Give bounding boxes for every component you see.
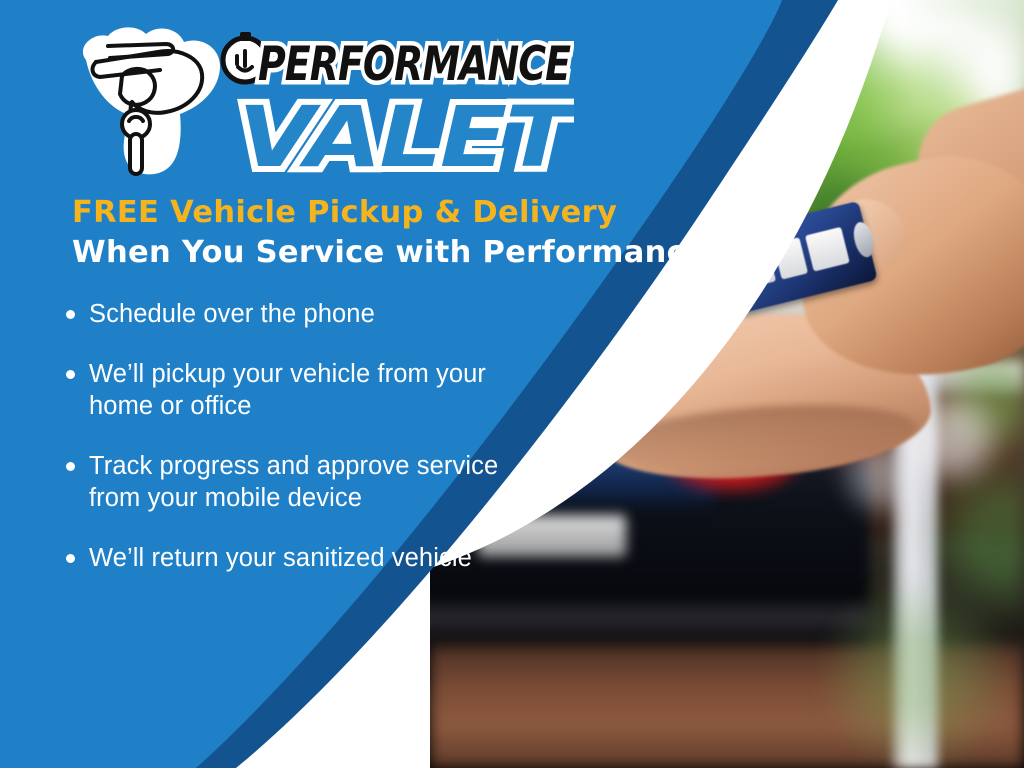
logo-valet-text: VALET [238, 88, 574, 186]
content-column: PERFORMANCE VALET FREE Vehicle Pickup & … [0, 0, 700, 768]
performance-valet-logo[interactable]: PERFORMANCE VALET [62, 18, 574, 186]
performance-valet-banner: PERFORMANCE VALET FREE Vehicle Pickup & … [0, 0, 1024, 768]
bullet-dot-icon [66, 462, 75, 471]
list-item-label: Schedule over the phone [89, 298, 375, 331]
list-item-label: We’ll return your sanitized vehicle [89, 542, 472, 575]
list-item: We’ll pickup your vehicle from your home… [66, 358, 626, 423]
headline-line-2: When You Service with Performance! [72, 233, 672, 273]
list-item: Track progress and approve service from … [66, 450, 626, 515]
headline-line-1: FREE Vehicle Pickup & Delivery [72, 193, 672, 233]
list-item: We’ll return your sanitized vehicle [66, 542, 626, 575]
logo-white-outline [83, 27, 220, 174]
headline-block: FREE Vehicle Pickup & Delivery When You … [72, 193, 672, 273]
bullet-dot-icon [66, 310, 75, 319]
list-item-label: We’ll pickup your vehicle from your home… [89, 358, 519, 423]
list-item-label: Track progress and approve service from … [89, 450, 519, 515]
bullet-dot-icon [66, 370, 75, 379]
benefits-list: Schedule over the phone We’ll pickup you… [66, 298, 626, 601]
list-item: Schedule over the phone [66, 298, 626, 331]
bullet-dot-icon [66, 554, 75, 563]
logo-performance-text: PERFORMANCE [258, 37, 571, 92]
